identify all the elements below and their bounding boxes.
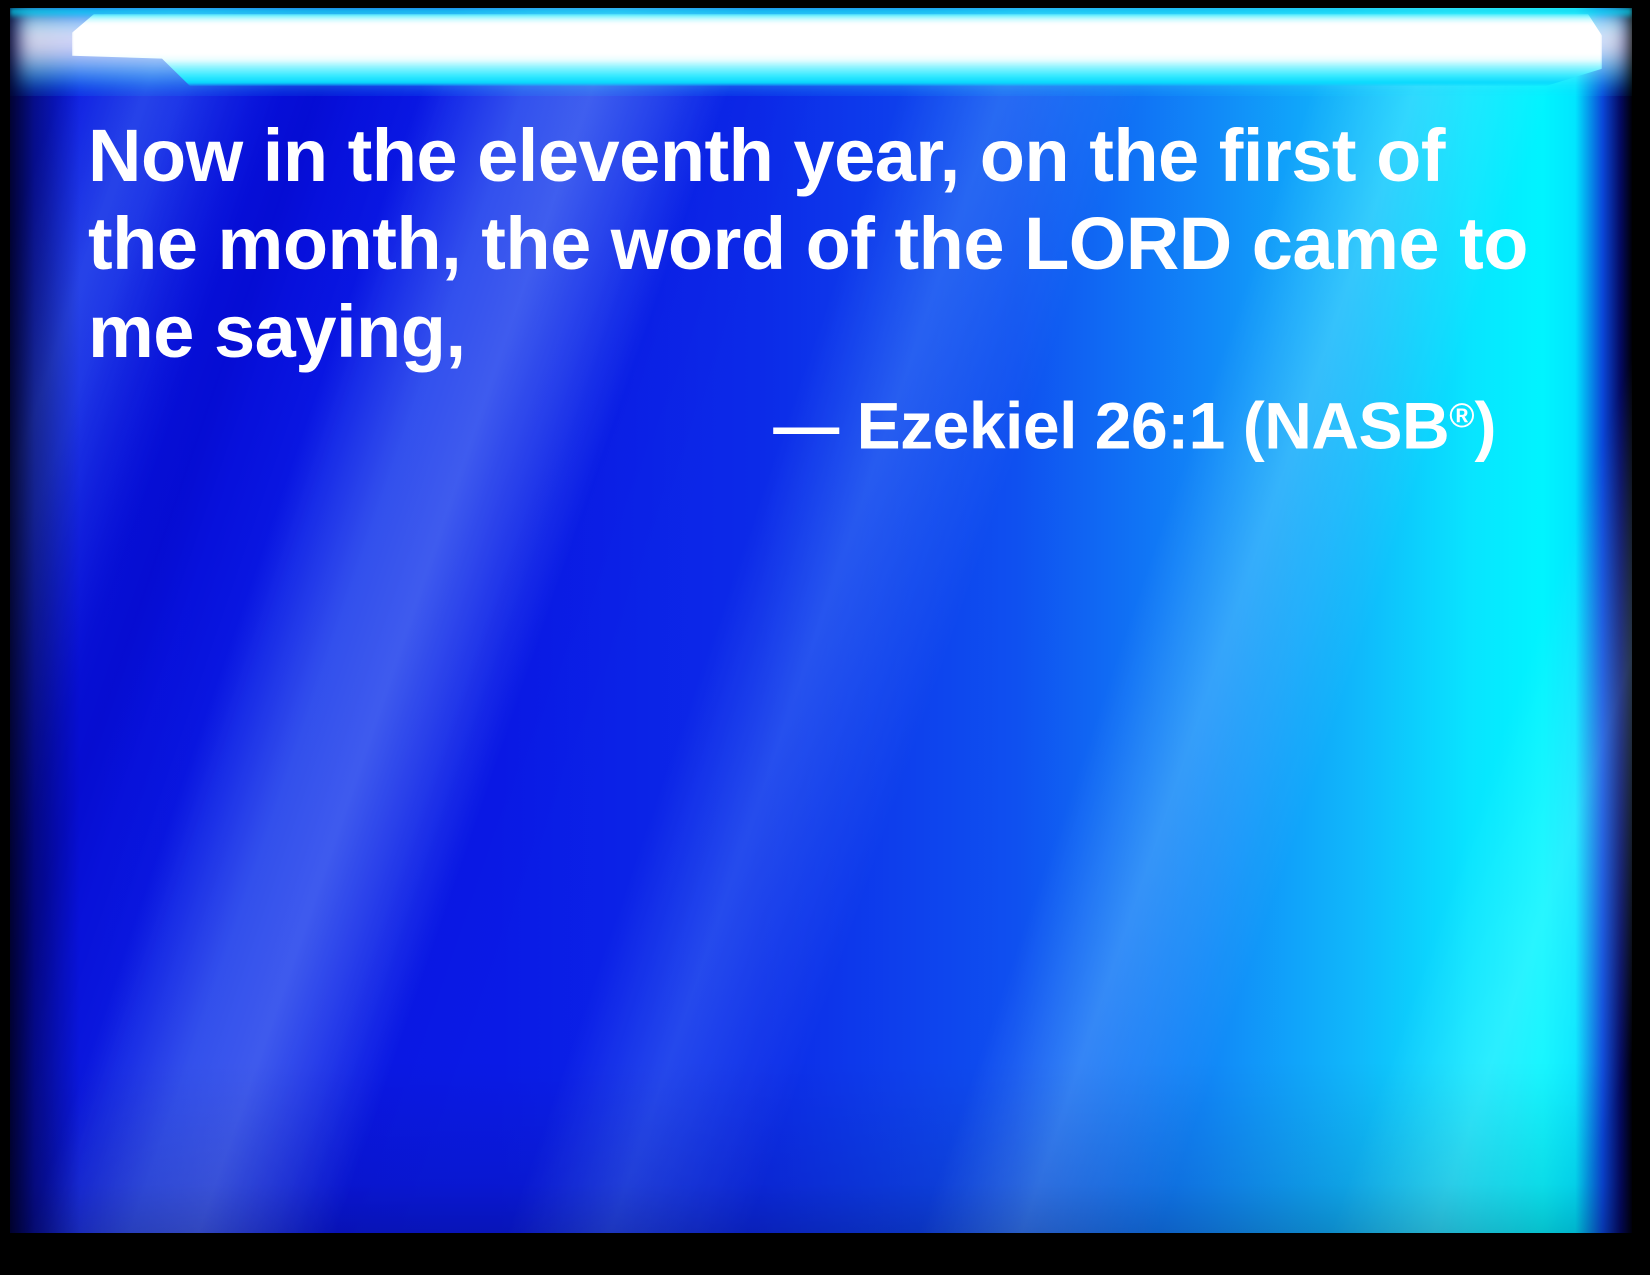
verse-line-1: Now in the eleventh year, on the first o… (88, 112, 1508, 200)
verse-attribution: — Ezekiel 26:1 (NASB®) (88, 376, 1496, 465)
attribution-translation-close: ) (1475, 388, 1496, 462)
bible-verse-slide: Now in the eleventh year, on the first o… (0, 0, 1650, 1275)
attribution-translation-open: (NASB (1243, 388, 1450, 462)
verse-line-2: the month, the word of the LORD came to (88, 200, 1508, 288)
attribution-em-dash: — (773, 388, 839, 462)
attribution-spacer-2 (1225, 388, 1243, 462)
verse-text-block: Now in the eleventh year, on the first o… (88, 112, 1508, 376)
registered-trademark-icon: ® (1449, 397, 1474, 435)
slide-text-layer: Now in the eleventh year, on the first o… (0, 0, 1650, 1275)
attribution-spacer-1 (839, 388, 857, 462)
verse-line-3: me saying, (88, 288, 1508, 376)
attribution-reference: Ezekiel 26:1 (857, 388, 1225, 462)
